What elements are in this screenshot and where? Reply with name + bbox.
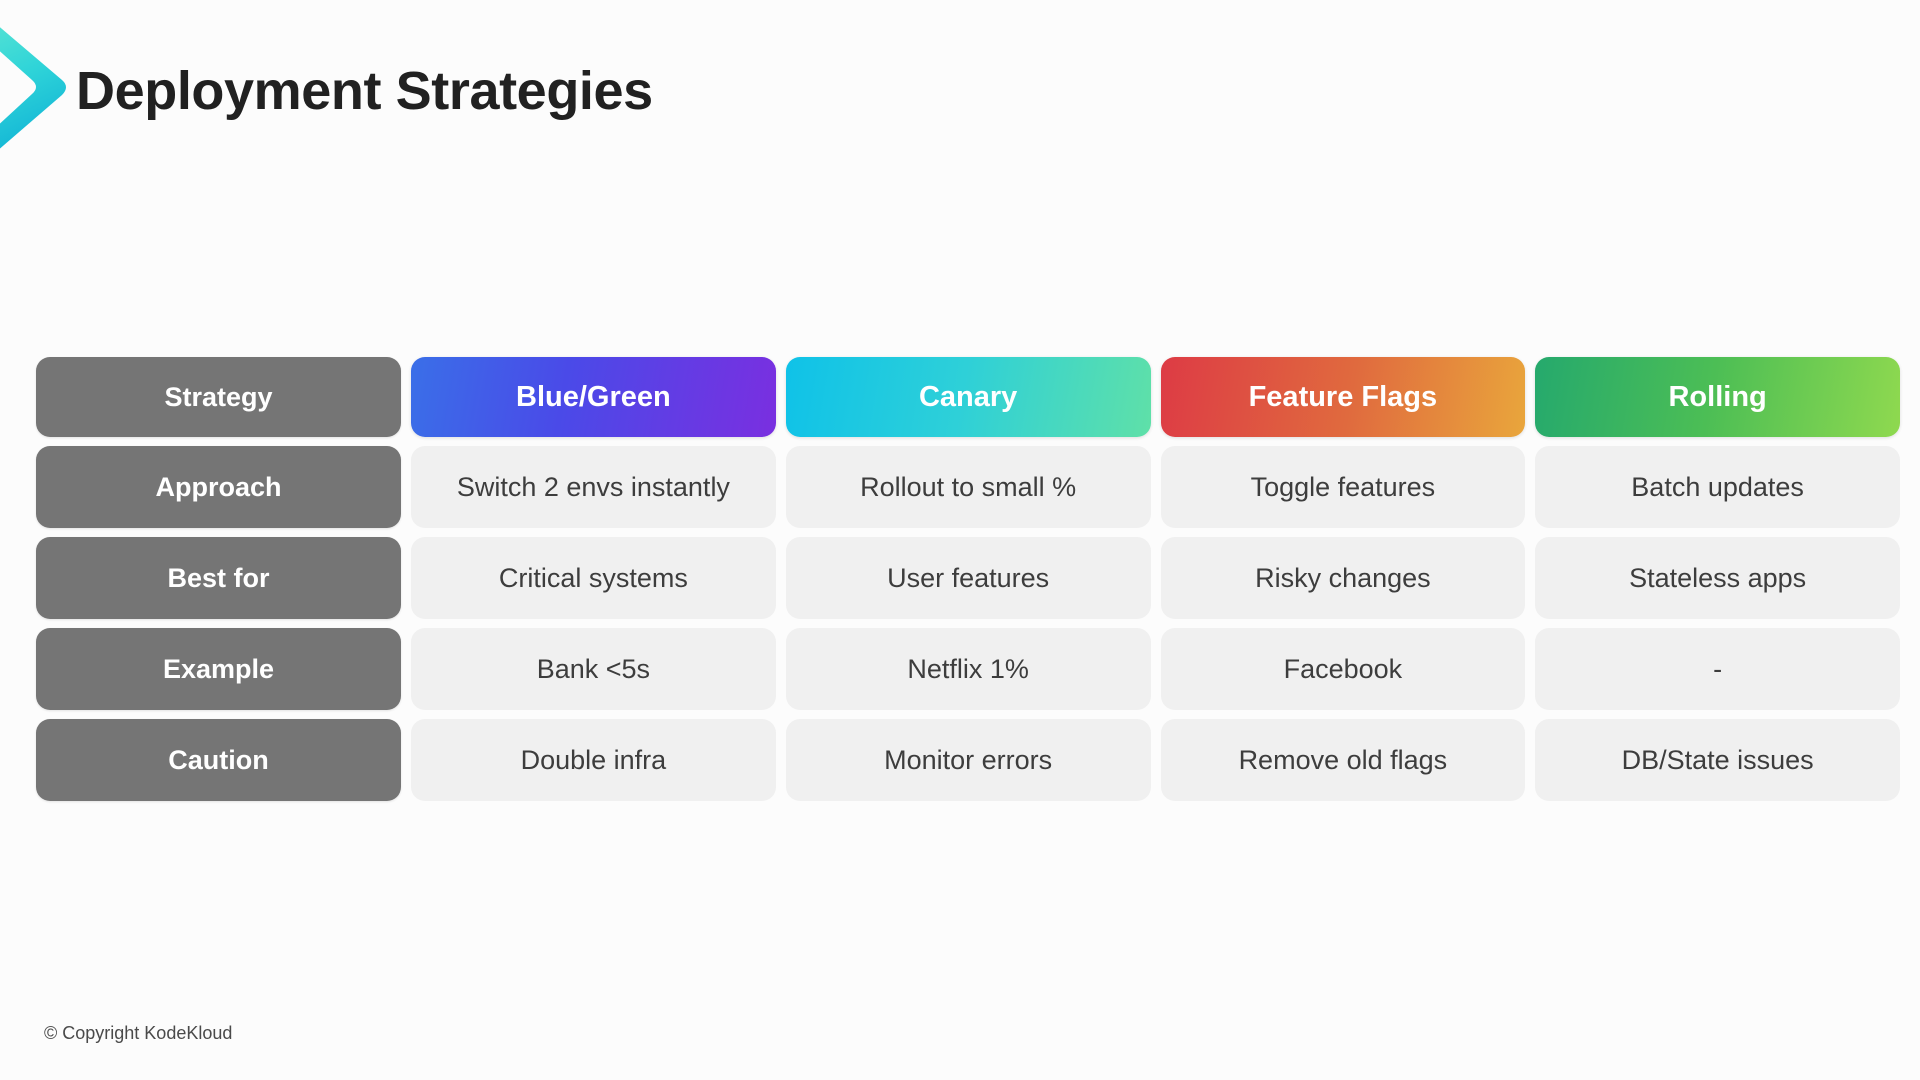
cell-example-feature-flags: Facebook	[1161, 628, 1526, 710]
kodekloud-chevron-logo-icon	[0, 8, 76, 168]
cell-caution-rolling: DB/State issues	[1535, 719, 1900, 801]
table-row: Caution Double infra Monitor errors Remo…	[36, 719, 1900, 801]
table-header-row: Strategy Blue/Green Canary Feature Flags…	[36, 357, 1900, 437]
cell-best-for-feature-flags: Risky changes	[1161, 537, 1526, 619]
cell-example-canary: Netflix 1%	[786, 628, 1151, 710]
cell-caution-feature-flags: Remove old flags	[1161, 719, 1526, 801]
row-label-caution: Caution	[36, 719, 401, 801]
copyright-notice: © Copyright KodeKloud	[44, 1023, 232, 1044]
page-title: Deployment Strategies	[76, 62, 653, 121]
cell-approach-blue-green: Switch 2 envs instantly	[411, 446, 776, 528]
deployment-strategies-table: Strategy Blue/Green Canary Feature Flags…	[36, 357, 1900, 801]
cell-approach-feature-flags: Toggle features	[1161, 446, 1526, 528]
cell-example-blue-green: Bank <5s	[411, 628, 776, 710]
cell-caution-blue-green: Double infra	[411, 719, 776, 801]
row-label-best-for: Best for	[36, 537, 401, 619]
table-header-blue-green: Blue/Green	[411, 357, 776, 437]
cell-best-for-rolling: Stateless apps	[1535, 537, 1900, 619]
table-row: Best for Critical systems User features …	[36, 537, 1900, 619]
table-header-rolling: Rolling	[1535, 357, 1900, 437]
table-row: Example Bank <5s Netflix 1% Facebook -	[36, 628, 1900, 710]
table-header-strategy: Strategy	[36, 357, 401, 437]
slide-canvas: Deployment Strategies Strategy Blue/Gree…	[0, 0, 1920, 1080]
cell-caution-canary: Monitor errors	[786, 719, 1151, 801]
row-label-example: Example	[36, 628, 401, 710]
cell-approach-canary: Rollout to small %	[786, 446, 1151, 528]
cell-best-for-canary: User features	[786, 537, 1151, 619]
cell-best-for-blue-green: Critical systems	[411, 537, 776, 619]
table-row: Approach Switch 2 envs instantly Rollout…	[36, 446, 1900, 528]
row-label-approach: Approach	[36, 446, 401, 528]
cell-example-rolling: -	[1535, 628, 1900, 710]
table-header-feature-flags: Feature Flags	[1161, 357, 1526, 437]
cell-approach-rolling: Batch updates	[1535, 446, 1900, 528]
table-header-canary: Canary	[786, 357, 1151, 437]
